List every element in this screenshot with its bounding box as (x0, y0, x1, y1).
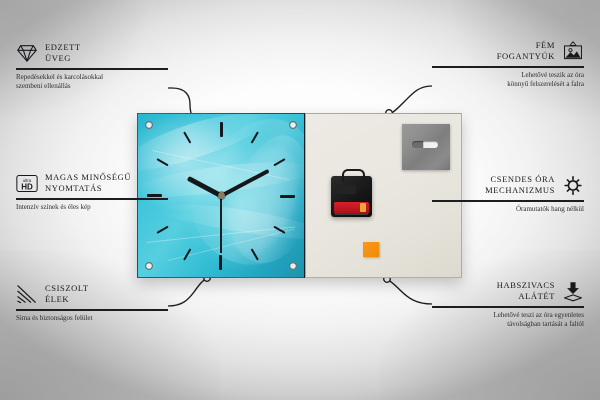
callout-title-line: CSENDES ÓRA (485, 174, 555, 185)
callout-rule (432, 306, 584, 308)
product-image (137, 113, 462, 278)
callout-title-line: MAGAS MINŐSÉGŰ (45, 172, 131, 183)
clock-center-hub (218, 192, 225, 199)
callout-desc-line: Lehetővé teszik az óra (432, 71, 584, 81)
hanger-slot (412, 141, 438, 148)
callout-rule (16, 68, 168, 70)
callout-title-line: HABSZIVACS (497, 280, 555, 291)
callout-title-line: ALÁTÉT (497, 291, 555, 302)
callout-csiszolt-elek: CSISZOLT ÉLEK Sima és biztonságos felüle… (16, 283, 168, 323)
svg-text:HD: HD (21, 182, 33, 191)
callout-desc-line: Sima és biztonságos felület (16, 314, 168, 324)
callout-rule (432, 200, 584, 202)
mount-hole-bottom-left (145, 262, 153, 270)
clock-mechanism (331, 176, 372, 217)
callout-rule (16, 309, 168, 311)
callout-rule (16, 198, 168, 200)
clock-tick-3 (221, 195, 295, 197)
callout-desc-line: Intenzív színek és éles kép (16, 203, 168, 213)
callout-desc-line: könnyű felszerelését a falra (432, 80, 584, 90)
callout-desc-line: Lehetővé teszi az óra egyenletes (432, 311, 584, 321)
callout-title-line: MECHANIZMUS (485, 185, 555, 196)
callout-title-line: ÜVEG (45, 53, 81, 64)
callout-title-line: EDZETT (45, 42, 81, 53)
callout-desc-line: távolságban tartását a faltól (432, 320, 584, 330)
mount-hole-bottom-right (289, 262, 297, 270)
foam-pad (363, 242, 379, 257)
polished-edge-icon (16, 283, 38, 305)
callout-desc-line: szembeni ellenállás (16, 82, 168, 92)
mount-hole-top-right (289, 121, 297, 129)
wire-fem-foganytuk (390, 86, 432, 114)
foam-pad-arrow-icon (562, 280, 584, 302)
callout-desc-line: Óramutatók hang nélkül (432, 205, 584, 215)
mechanism-bail (342, 169, 365, 181)
callout-desc-line: Repedésekkel és karcolásokkal (16, 73, 168, 83)
callout-csendes-ora-mechanizmus: CSENDES ÓRA MECHANIZMUS Óramutatók hang … (432, 174, 584, 214)
mechanism-base (335, 213, 368, 215)
clock-tick-12 (220, 122, 222, 196)
clock-second-hand (220, 196, 222, 253)
diamond-icon (16, 42, 38, 64)
gear-icon (562, 174, 584, 196)
callout-fem-foganytuk: FÉM FOGANTYÚK Lehetővé teszik az óra kön… (432, 40, 584, 90)
metal-hanger-plate (402, 124, 450, 170)
wire-csiszolt-elek (168, 279, 206, 306)
picture-hanger-icon (562, 40, 584, 62)
infographic-canvas: EDZETT ÜVEG Repedésekkel és karcolásokka… (0, 0, 600, 400)
callout-edzett-uveg: EDZETT ÜVEG Repedésekkel és karcolásokka… (16, 42, 168, 92)
mount-hole-top-left (145, 121, 153, 129)
callout-title-line: CSISZOLT (45, 283, 89, 294)
mechanism-seam (336, 185, 356, 194)
callout-title-line: ÉLEK (45, 294, 89, 305)
callout-rule (432, 66, 584, 68)
callout-habszivacs-alatet: HABSZIVACS ALÁTÉT Lehetővé teszi az óra … (432, 280, 584, 330)
callout-title-line: FOGANTYÚK (497, 51, 555, 62)
callout-title-line: NYOMTATÁS (45, 183, 131, 194)
callout-title-line: FÉM (497, 40, 555, 51)
callout-magas-minosegu-nyomtatas: ultra HD MAGAS MINŐSÉGŰ NYOMTATÁS Intenz… (16, 172, 168, 212)
wire-habszivacs (388, 280, 432, 304)
ultra-hd-badge-icon: ultra HD (16, 172, 38, 194)
